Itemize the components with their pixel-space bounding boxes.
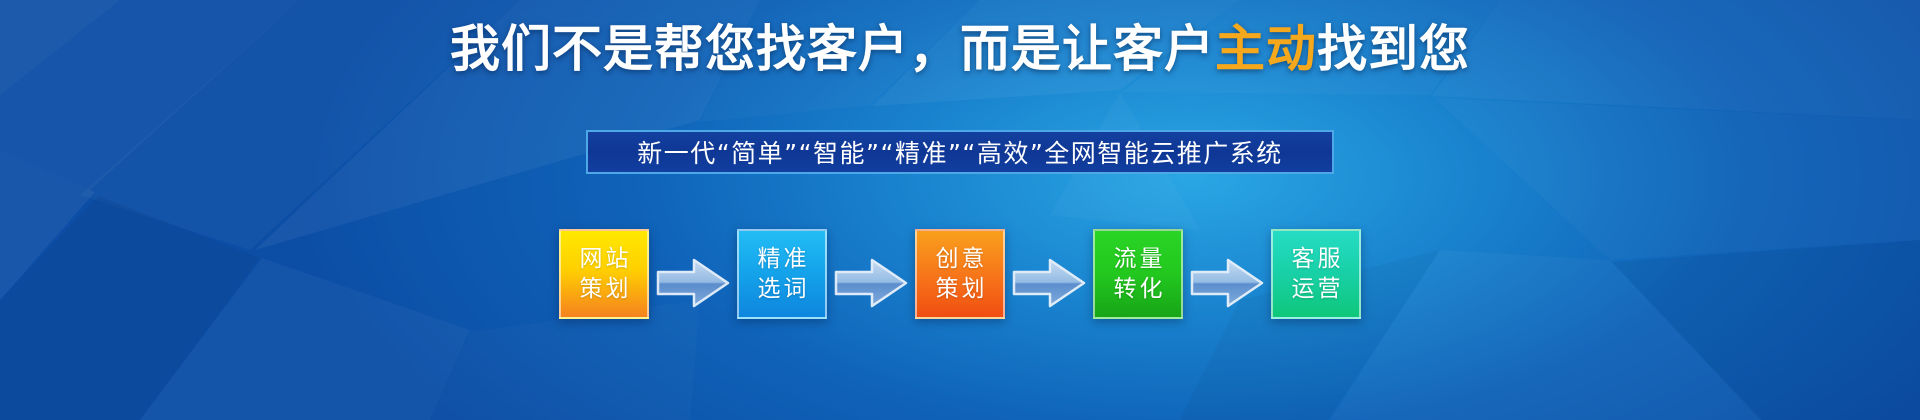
headline-after: 找到您 xyxy=(1317,21,1470,77)
step-label-line2: 策划 xyxy=(933,274,988,304)
flow-step-traffic-conversion[interactable]: 流量 转化 xyxy=(1093,229,1183,319)
step-label-line1: 网站 xyxy=(577,244,632,274)
step-label-line2: 选词 xyxy=(755,274,810,304)
step-label-line1: 精准 xyxy=(755,244,810,274)
arrow-right-icon xyxy=(1012,258,1086,308)
flow-step-customer-service-ops[interactable]: 客服 运营 xyxy=(1271,229,1361,319)
headline-before: 我们不是帮您找客户，而是让客户 xyxy=(450,21,1215,77)
flow-arrow-2 xyxy=(827,258,915,308)
step-label-line2: 运营 xyxy=(1289,274,1344,304)
flow-step-creative-planning[interactable]: 创意 策划 xyxy=(915,229,1005,319)
process-flow: 网站 策划 精准 选词 xyxy=(559,228,1361,320)
step-label-line2: 转化 xyxy=(1111,274,1166,304)
arrow-right-icon xyxy=(834,258,908,308)
step-label-line1: 流量 xyxy=(1111,244,1166,274)
flow-step-precise-keywords[interactable]: 精准 选词 xyxy=(737,229,827,319)
step-label-line2: 策划 xyxy=(577,274,632,304)
flow-arrow-3 xyxy=(1005,258,1093,308)
subtitle-banner: 新一代“简单”“智能”“精准”“高效”全网智能云推广系统 xyxy=(586,130,1334,174)
subtitle-text: 新一代“简单”“智能”“精准”“高效”全网智能云推广系统 xyxy=(637,134,1283,170)
step-label-line1: 创意 xyxy=(933,244,988,274)
promo-banner: 我们不是帮您找客户，而是让客户主动找到您 新一代“简单”“智能”“精准”“高效”… xyxy=(0,0,1920,420)
flow-step-website-planning[interactable]: 网站 策划 xyxy=(559,229,649,319)
arrow-right-icon xyxy=(656,258,730,308)
arrow-right-icon xyxy=(1190,258,1264,308)
headline-highlight: 主动 xyxy=(1215,21,1317,77)
page-title: 我们不是帮您找客户，而是让客户主动找到您 xyxy=(0,16,1920,82)
step-label-line1: 客服 xyxy=(1289,244,1344,274)
flow-arrow-4 xyxy=(1183,258,1271,308)
flow-arrow-1 xyxy=(649,258,737,308)
